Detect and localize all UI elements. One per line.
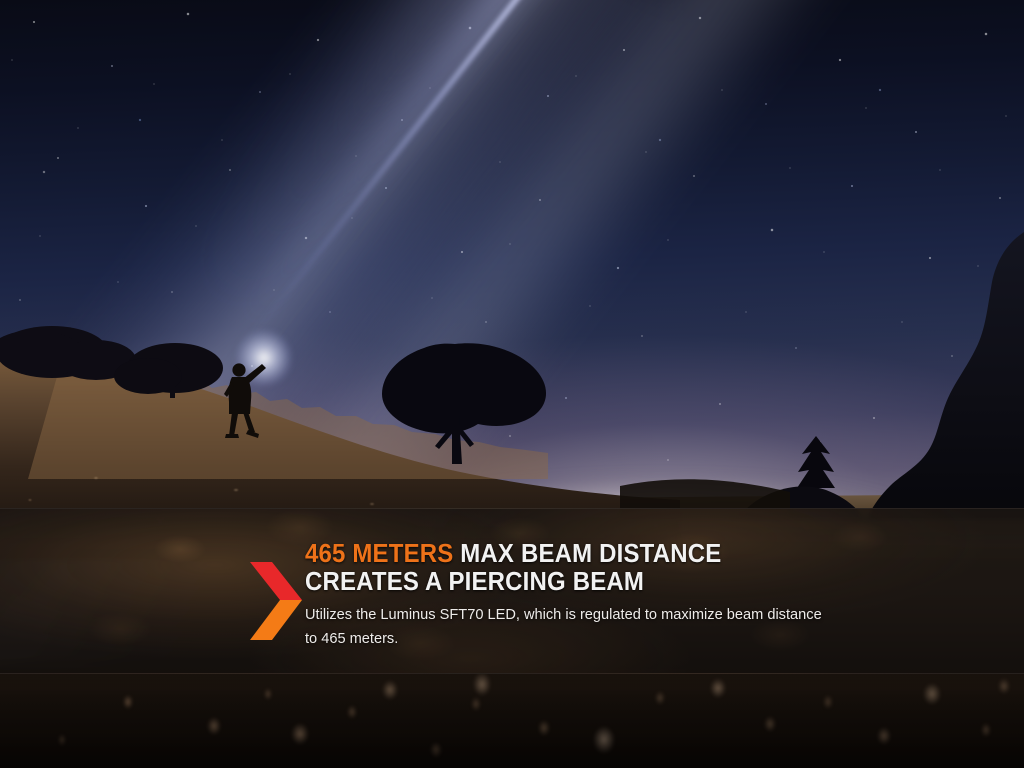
headline-line-1: 465 METERS MAX BEAM DISTANCE bbox=[305, 540, 925, 568]
headline-line-2: CREATES A PIERCING BEAM bbox=[305, 568, 925, 596]
headline-accent: 465 METERS bbox=[305, 540, 453, 568]
caption-text-block: 465 METERS MAX BEAM DISTANCE CREATES A P… bbox=[305, 540, 965, 651]
caption-body-text: Utilizes the Luminus SFT70 LED, which is… bbox=[305, 604, 835, 651]
double-chevron-right-icon bbox=[250, 562, 304, 640]
product-feature-hero: 465 METERS MAX BEAM DISTANCE CREATES A P… bbox=[0, 0, 1024, 768]
headline-rest: MAX BEAM DISTANCE bbox=[460, 540, 721, 568]
foreground-shadow-overlay bbox=[0, 660, 1024, 768]
